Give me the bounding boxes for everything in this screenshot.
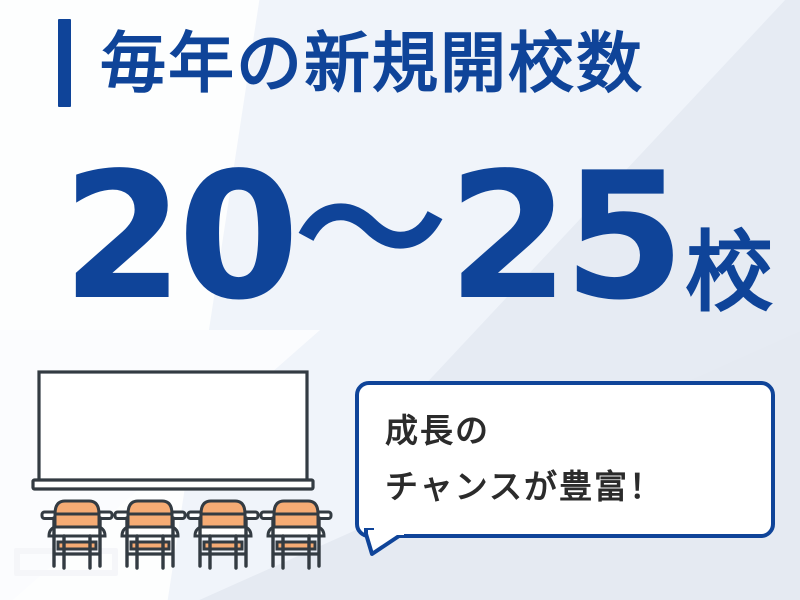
page-title: 毎年の新規開校数 (100, 22, 644, 106)
callout-line-1: 成長の (385, 403, 757, 459)
figure-unit: 校 (685, 185, 773, 360)
callout-line-2: チャンスが豊富！ (385, 459, 757, 515)
desk-chair-2 (115, 501, 185, 568)
infographic-card: 毎年の新規開校数 20 〜 25 校 (0, 0, 800, 600)
callout-bubble: 成長の チャンスが豊富！ (355, 381, 775, 538)
figure-value-from: 20 (62, 150, 294, 325)
figure-range-separator: 〜 (296, 145, 446, 320)
classroom-illustration (0, 352, 340, 582)
accent-bar-icon (58, 19, 71, 107)
headline-figure: 20 〜 25 校 (62, 150, 773, 354)
desk-chair-1 (42, 501, 112, 568)
figure-value-to: 25 (448, 150, 680, 325)
callout-tail-icon (362, 528, 414, 564)
desk-chair-3 (188, 501, 258, 568)
whiteboard-icon (33, 372, 313, 489)
callout-text: 成長の チャンスが豊富！ (385, 403, 757, 515)
desk-chair-4 (261, 501, 331, 568)
